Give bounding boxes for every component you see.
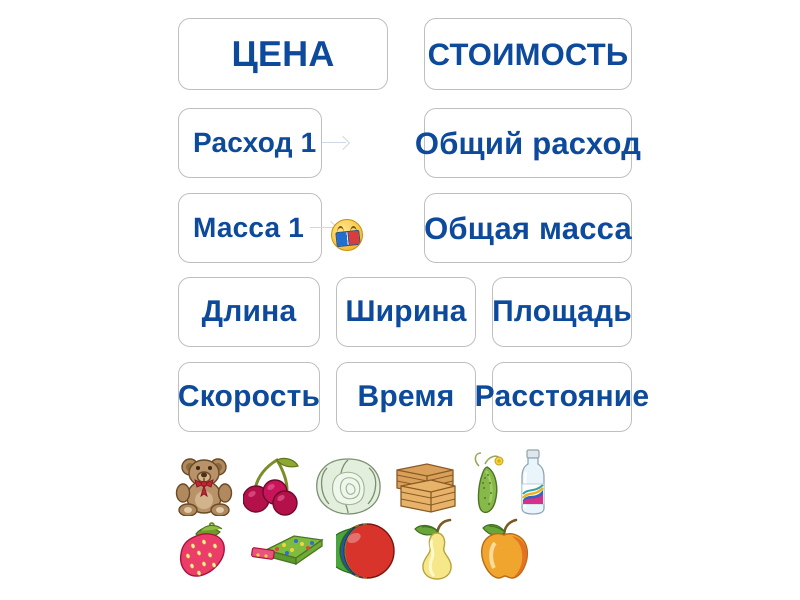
card-obshaya-massa[interactable]: Общая масса — [424, 193, 632, 263]
worksheet-canvas: Математические величины — карточки ЦЕНА … — [0, 0, 800, 600]
card-obshiy-rashod[interactable]: Общий расход — [424, 108, 632, 178]
strawberry-icon — [176, 522, 238, 580]
card-label: Скорость — [178, 382, 320, 412]
card-ploshad[interactable]: Площадь — [492, 277, 632, 347]
card-cena[interactable]: ЦЕНА — [178, 18, 388, 90]
teddy-bear-icon — [175, 454, 233, 516]
card-label: Расстояние — [475, 382, 650, 412]
card-label: Расход 1 — [193, 129, 316, 157]
candy-bag-icon — [250, 528, 324, 570]
cherries-icon — [243, 454, 303, 516]
card-label: Площадь — [492, 297, 632, 327]
card-vremya[interactable]: Время — [336, 362, 476, 432]
card-label: Ширина — [345, 297, 466, 327]
wooden-crates-icon — [393, 458, 459, 516]
water-bottle-icon — [517, 448, 549, 516]
laughing-face-with-book-emoji — [331, 219, 363, 251]
card-label: Масса 1 — [193, 214, 304, 242]
card-rasstoyanie[interactable]: Расстояние — [492, 362, 632, 432]
card-stoimost[interactable]: СТОИМОСТЬ — [424, 18, 632, 90]
card-label: ЦЕНА — [231, 36, 334, 72]
card-label: Общая масса — [424, 213, 632, 244]
card-dlina[interactable]: Длина — [178, 277, 320, 347]
card-label: Длина — [202, 297, 297, 327]
apple-icon — [476, 518, 532, 580]
card-skorost[interactable]: Скорость — [178, 362, 320, 432]
card-label: СТОИМОСТЬ — [428, 39, 629, 70]
cucumber-icon — [469, 450, 507, 516]
card-label: Время — [358, 382, 455, 412]
clipart-row-2 — [176, 518, 532, 580]
pear-icon — [410, 518, 464, 580]
card-label: Общий расход — [415, 128, 641, 159]
card-massa-1[interactable]: Масса 1 — [178, 193, 322, 263]
page-title: Математические величины — карточки — [0, 21, 1, 22]
card-shirina[interactable]: Ширина — [336, 277, 476, 347]
card-rashod-1[interactable]: Расход 1 — [178, 108, 322, 178]
arrow-right-icon — [322, 136, 352, 150]
striped-ball-icon — [336, 522, 398, 580]
cabbage-icon — [313, 456, 383, 516]
clipart-row-1 — [175, 448, 549, 516]
emoji-book — [335, 230, 360, 247]
